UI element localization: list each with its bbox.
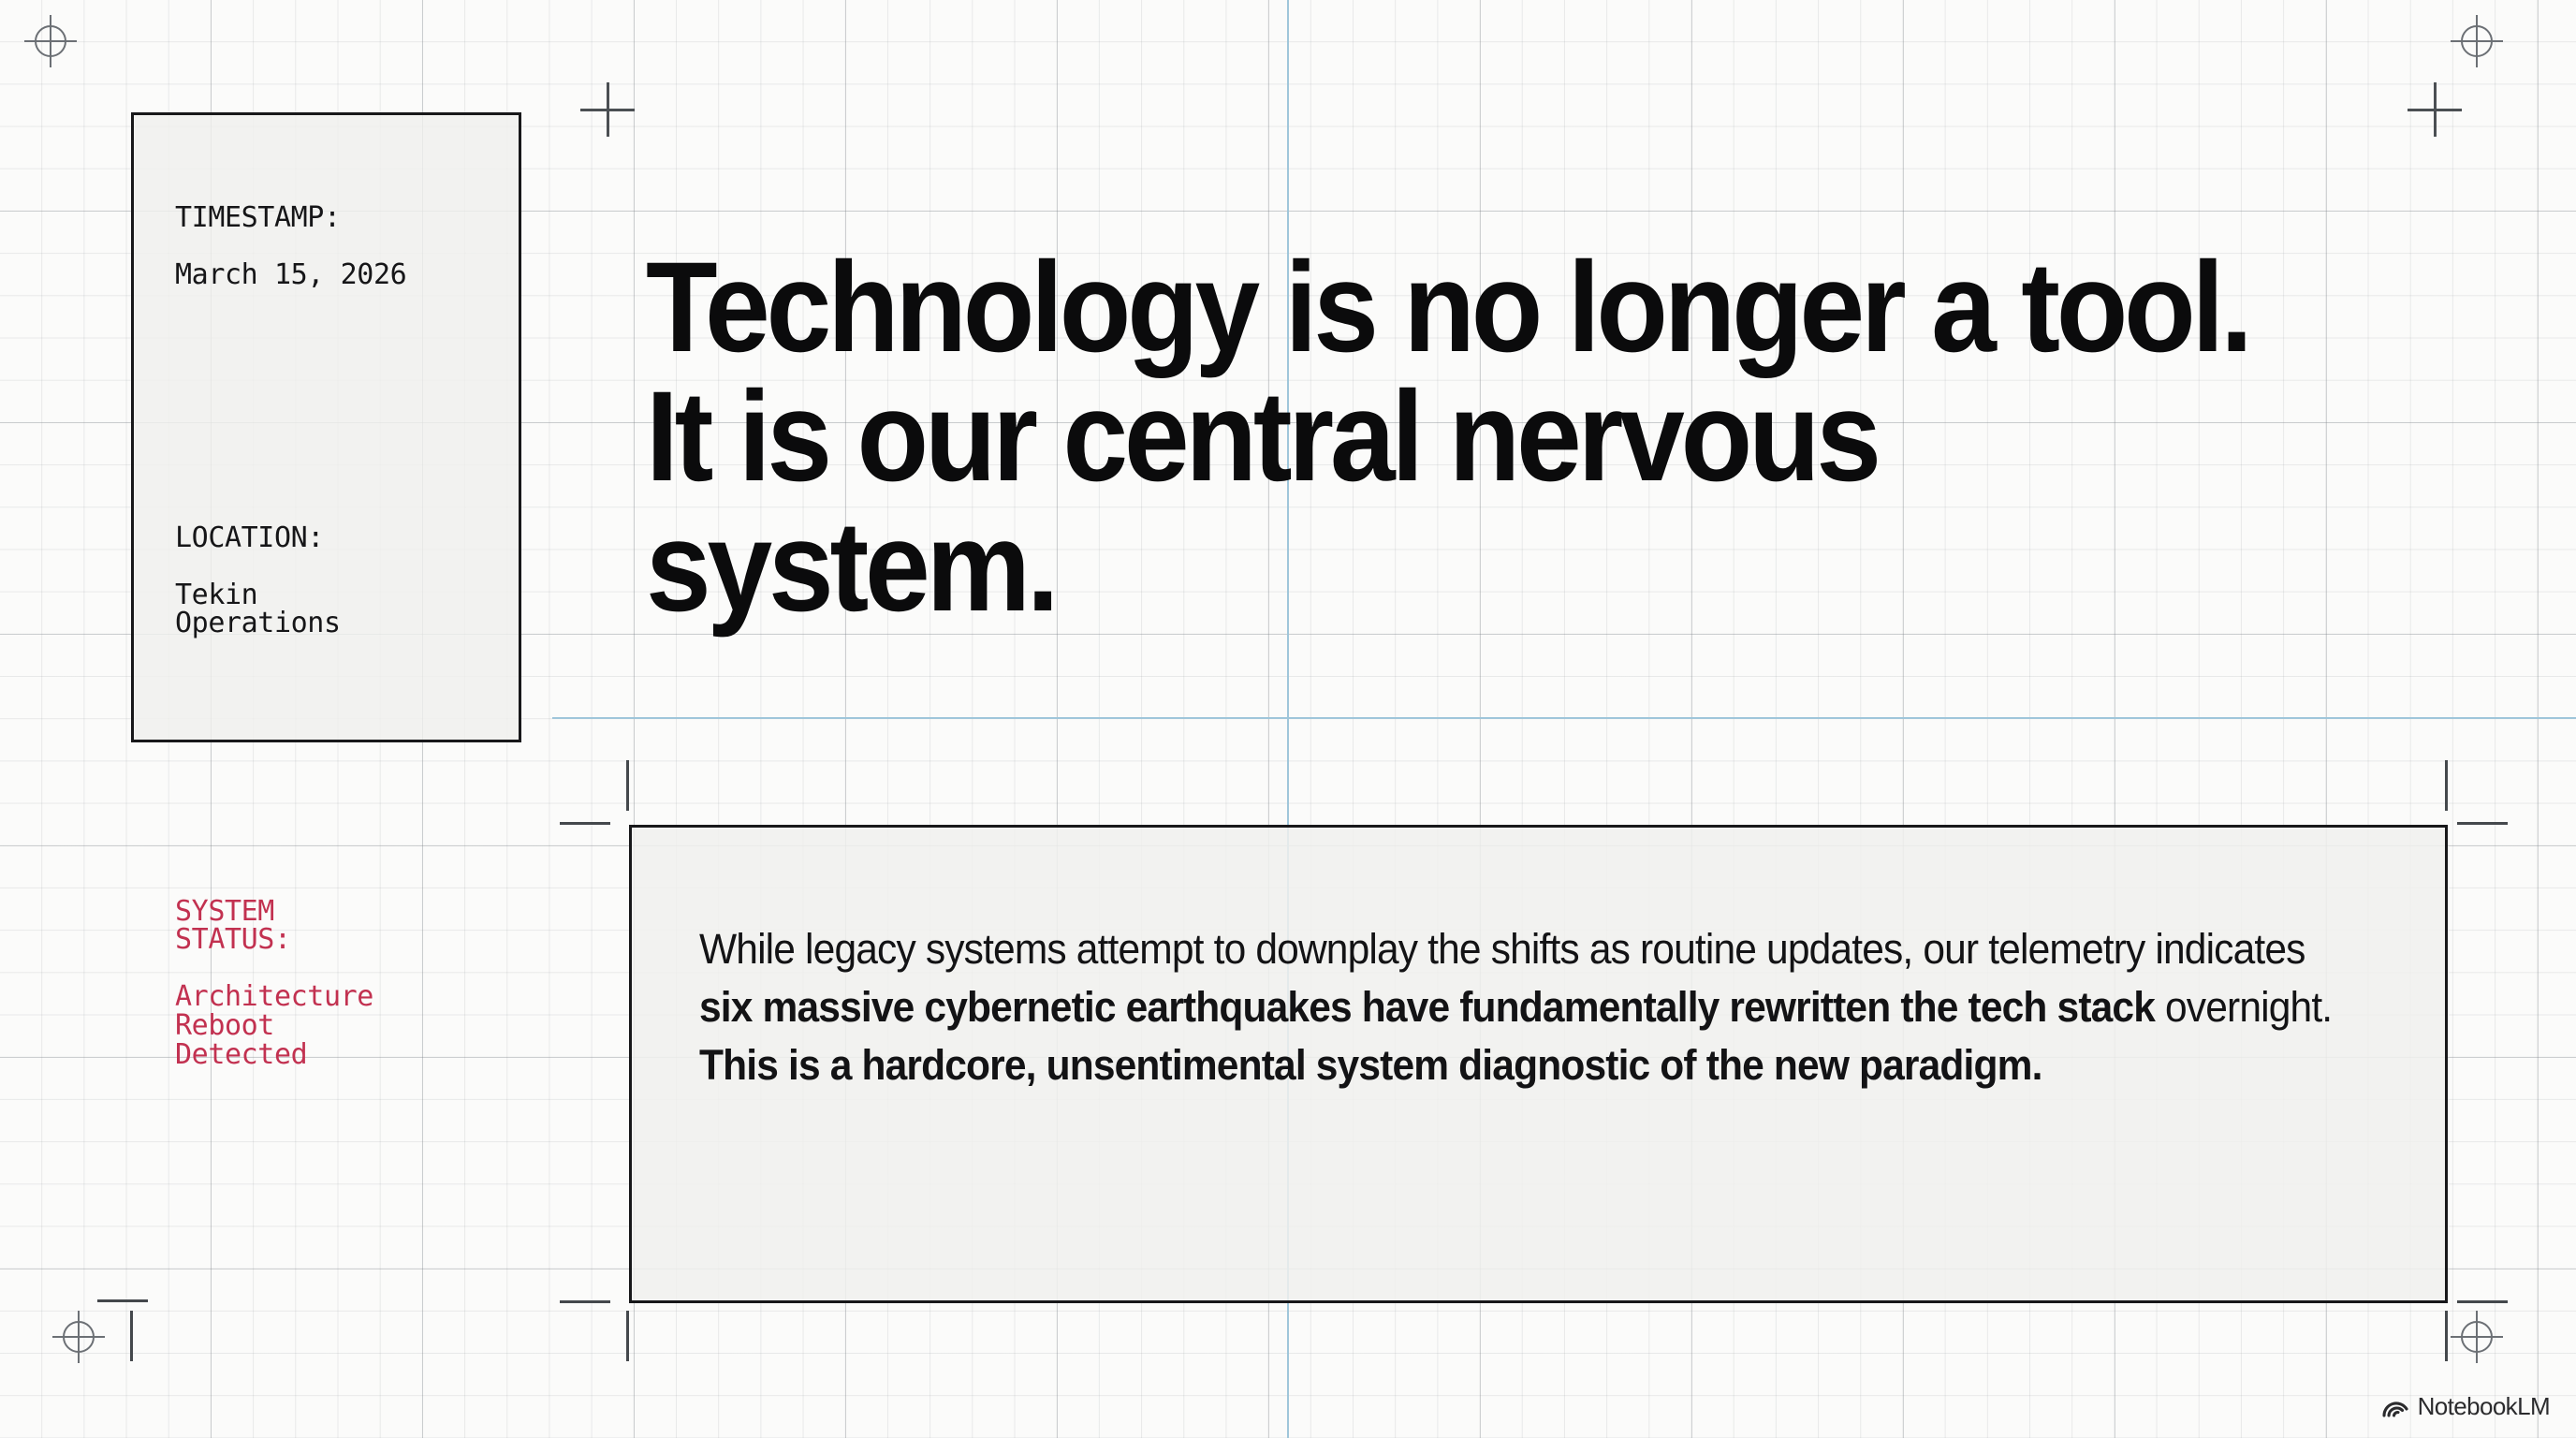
meta-field-timestamp: TIMESTAMP: March 15, 2026 bbox=[175, 175, 512, 318]
meta-label-system-status: SYSTEM STATUS: bbox=[175, 898, 512, 955]
crop-tick-icon-bottom-left-h bbox=[560, 1300, 610, 1303]
body-emphasis: This is a hardcore, unsentimental system… bbox=[699, 1041, 2042, 1089]
crop-tick-icon-meta-bottom-v bbox=[130, 1311, 133, 1361]
crop-tick-icon-bottom-right-v bbox=[2445, 1311, 2448, 1361]
body-callout-box: While legacy systems attempt to downplay… bbox=[629, 825, 2448, 1303]
notebooklm-wordmark: NotebookLM bbox=[2418, 1392, 2550, 1421]
horizontal-layout-guide bbox=[552, 717, 2576, 719]
meta-value-system-status: Architecture Reboot Detected bbox=[175, 983, 512, 1069]
notebooklm-spiral-icon bbox=[2382, 1396, 2408, 1418]
body-plain: overnight. bbox=[2155, 983, 2332, 1031]
body-emphasis: six massive cybernetic earthquakes have … bbox=[699, 983, 2155, 1031]
crop-tick-icon-meta-bottom-h bbox=[97, 1299, 148, 1302]
body-paragraph: While legacy systems attempt to downplay… bbox=[699, 920, 2340, 1094]
crop-tick-icon-bottom-right-h bbox=[2457, 1300, 2508, 1303]
meta-label-location: LOCATION: bbox=[175, 524, 512, 553]
crop-tick-icon-top-left-v bbox=[626, 760, 629, 811]
crop-tick-icon-top-right-v bbox=[2445, 760, 2448, 811]
headline: Technology is no longer a tool. It is ou… bbox=[646, 243, 2307, 632]
crop-tick-icon-top-right-h bbox=[2457, 822, 2508, 825]
meta-field-system-status: SYSTEM STATUS: Architecture Reboot Detec… bbox=[175, 869, 512, 1098]
meta-field-location: LOCATION: Tekin Operations bbox=[175, 495, 512, 668]
meta-value-timestamp: March 15, 2026 bbox=[175, 261, 512, 290]
meta-label-timestamp: TIMESTAMP: bbox=[175, 204, 512, 233]
body-plain: While legacy systems attempt to downplay… bbox=[699, 925, 2305, 973]
meta-panel: TIMESTAMP: March 15, 2026 LOCATION: Teki… bbox=[131, 112, 521, 742]
meta-value-location: Tekin Operations bbox=[175, 581, 512, 638]
notebooklm-badge: NotebookLM bbox=[2382, 1392, 2550, 1421]
slide-canvas: TIMESTAMP: March 15, 2026 LOCATION: Teki… bbox=[0, 0, 2576, 1438]
crop-tick-icon-bottom-left-v bbox=[626, 1311, 629, 1361]
crop-tick-icon-top-left-h bbox=[560, 822, 610, 825]
